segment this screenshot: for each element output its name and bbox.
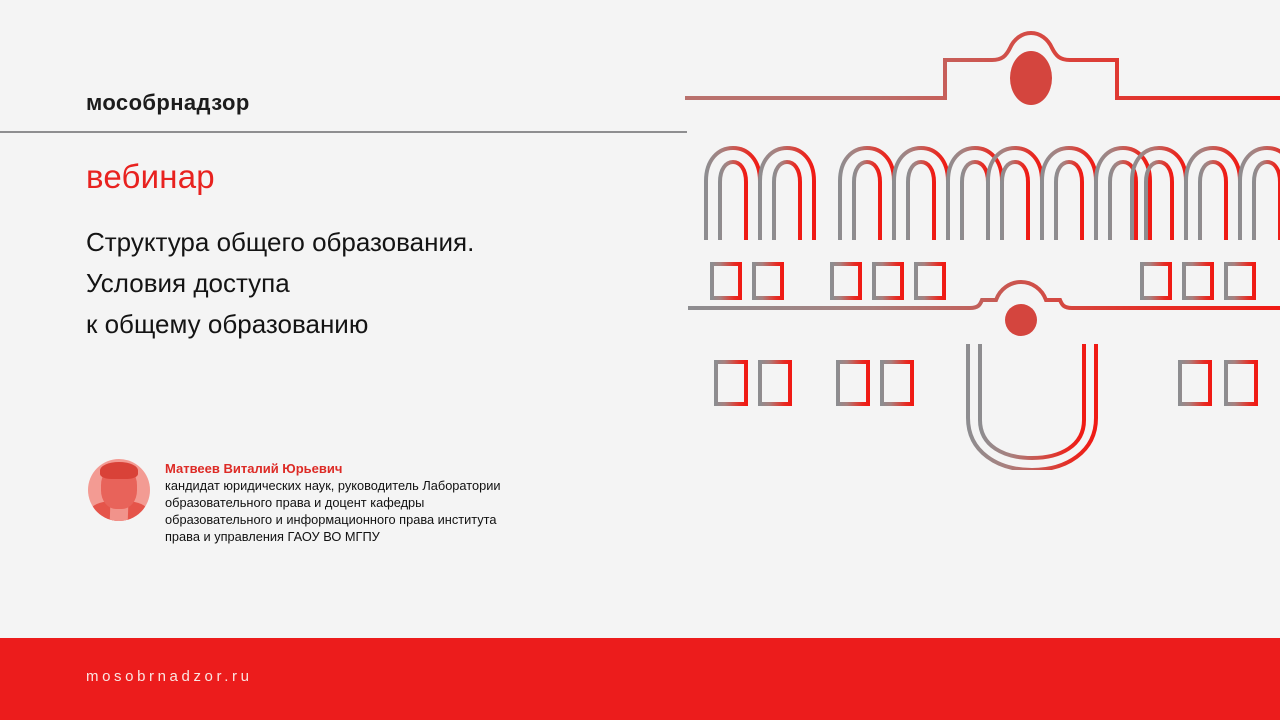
building-svg (680, 0, 1280, 470)
title-line-2: Условия доступа (86, 263, 646, 304)
speaker-name: Матвеев Виталий Юрьевич (165, 460, 501, 477)
speaker-role-line-1: кандидат юридических наук, руководитель … (165, 477, 501, 494)
brand-wordmark: мособрнадзор (86, 90, 250, 116)
webinar-eyebrow-label: вебинар (86, 158, 215, 196)
footer-website-url[interactable]: mosobrnadzor.ru (86, 668, 253, 685)
speaker-block: Матвеев Виталий Юрьевич кандидат юридиче… (88, 459, 501, 545)
speaker-role-line-2: образовательного права и доцент кафедры (165, 494, 501, 511)
footer-bar: mosobrnadzor.ru (0, 638, 1280, 720)
speaker-role-line-3: образовательного и информационного права… (165, 511, 501, 528)
speaker-text: Матвеев Виталий Юрьевич кандидат юридиче… (165, 459, 501, 545)
title-line-3: к общему образованию (86, 304, 646, 345)
avatar (88, 459, 150, 521)
page-title: Структура общего образования. Условия до… (86, 222, 646, 345)
speaker-role: кандидат юридических наук, руководитель … (165, 477, 501, 545)
government-building-illustration (680, 0, 1280, 470)
title-line-1: Структура общего образования. (86, 222, 646, 263)
avatar-hair (100, 462, 138, 479)
header-divider (0, 131, 687, 133)
speaker-role-line-4: права и управления ГАОУ ВО МГПУ (165, 528, 501, 545)
webinar-title-slide: мособрнадзор вебинар Структура общего об… (0, 0, 1280, 720)
